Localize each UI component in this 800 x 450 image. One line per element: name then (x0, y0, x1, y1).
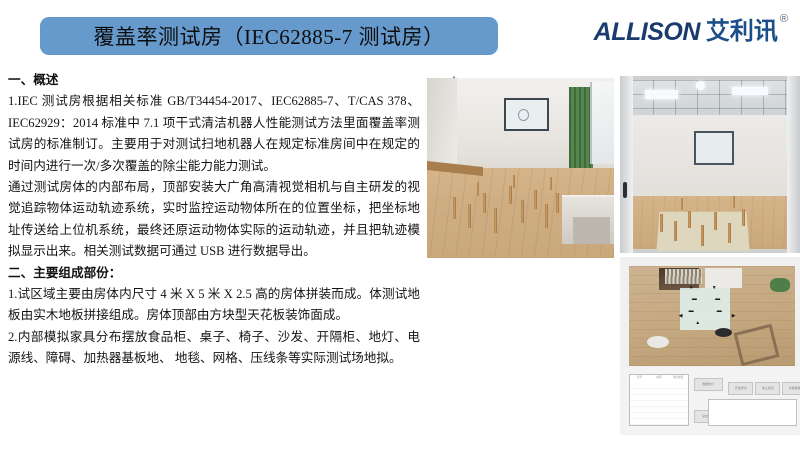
section-heading-overview: 一、概述 (8, 70, 420, 91)
trajectory-arrow-icon: ▲ (695, 321, 700, 326)
trajectory-arrow-icon: ▬ (689, 309, 694, 314)
overhead-camera-view: ▼ ▼ ▬ ▬ ▬ ▬ ▲ ◀ ▶ (629, 266, 795, 366)
status-message-box[interactable] (708, 399, 796, 426)
obstacle-post (483, 193, 486, 213)
obstacle-post (521, 200, 524, 223)
obstacle-post (660, 214, 663, 232)
obstacle-post (728, 223, 731, 243)
obstacle-post (453, 197, 456, 219)
registered-trademark-icon: ® (780, 14, 788, 25)
robot-marker (715, 328, 732, 337)
wall-mounted-panel (694, 131, 734, 165)
trajectory-arrow-icon: ▶ (732, 314, 736, 319)
room-door-right (787, 76, 800, 253)
stop-test-button[interactable]: 停止测试 (755, 382, 780, 396)
step-platform-upper (573, 217, 610, 244)
plant-object (770, 278, 790, 292)
paragraph-furniture-layout: 2.内部模拟家具分布摆放食品柜、桌子、椅子、沙发、开隔柜、地灯、电源线、障碍、加… (8, 327, 420, 370)
paragraph-tracking-system: 通过测试房体的内部布局，顶部安装大广角高清视觉相机与自主研发的视觉追踪物体运动轨… (8, 177, 420, 263)
obstacle-post (733, 196, 735, 208)
start-test-button[interactable]: 开始测试 (728, 382, 753, 396)
obstacle-post (513, 175, 515, 188)
obstacle-post (494, 208, 497, 233)
obstacle-post (545, 204, 548, 228)
blinds-region (665, 269, 701, 284)
obstacle-post (742, 209, 745, 226)
table-header-position: 坐标位置 (668, 375, 687, 383)
trajectory-arrow-icon: ▬ (717, 309, 722, 314)
trajectory-arrow-icon: ▼ (689, 286, 694, 291)
obstacle-post (714, 212, 717, 230)
pendant-lamp-icon (696, 81, 705, 90)
obstacle-post (468, 204, 471, 228)
floor-lamp (647, 336, 669, 348)
photo-tracking-software-ui: ▼ ▼ ▬ ▬ ▬ ▬ ▲ ◀ ▶ 序号 时间 坐标位置 数据统计 轨迹回放 (620, 257, 800, 435)
logo-cjk-text: 艾利讯 (706, 20, 778, 44)
trajectory-arrow-icon: ▼ (712, 286, 717, 291)
panel-circle-marker (518, 109, 529, 121)
page-title: 覆盖率测试房（IEC62885-7 测试房） (93, 21, 444, 51)
chair-frame-object (734, 323, 780, 365)
table-header-index: 序号 (630, 375, 649, 383)
media-panel: 0510152025303540455055606570758085909510… (424, 70, 800, 436)
obstacle-post (556, 193, 559, 213)
page-header: 覆盖率测试房（IEC62885-7 测试房） ALLISON 艾利讯 ® (0, 0, 800, 68)
obstacle-post (674, 221, 677, 241)
ceiling-light (732, 87, 768, 96)
paragraph-standards: 1.IEC 测试房根据相关标准 GB/T34454-2017、IEC62885-… (8, 91, 420, 177)
table-header-time: 时间 (649, 375, 668, 383)
photo-test-room-with-posts (427, 78, 614, 258)
obstacle-post (509, 186, 512, 204)
obstacle-post (681, 198, 683, 210)
photo-test-room-wide-view (620, 76, 800, 253)
obstacle-post (550, 177, 552, 190)
photo-room-wide-canvas (620, 76, 800, 253)
white-furniture-block (705, 268, 741, 288)
table-rows (630, 383, 688, 425)
trajectory-arrow-icon: ▬ (715, 297, 720, 302)
trajectory-arrow-icon: ▬ (692, 297, 697, 302)
wall-mounted-panel (504, 98, 549, 131)
ceiling-tiles (631, 80, 789, 119)
door-handle-icon (623, 182, 628, 198)
stats-button[interactable]: 数据统计 (694, 378, 723, 391)
section-heading-components: 二、主要组成部份： (8, 263, 420, 284)
ceiling-grid-lines (631, 80, 789, 119)
room-door-left (620, 76, 633, 253)
body-text-column: 一、概述 1.IEC 测试房根据相关标准 GB/T34454-2017、IEC6… (8, 70, 420, 370)
obstacle-post (477, 182, 479, 196)
photo-room-posts-canvas (427, 78, 614, 258)
paragraph-room-structure: 1.试区域主要由房体内尺寸 4 米 X 5 米 X 2.5 高的房体拼装而成。体… (8, 284, 420, 327)
photo-software-canvas: ▼ ▼ ▬ ▬ ▬ ▬ ▲ ◀ ▶ 序号 时间 坐标位置 数据统计 轨迹回放 (620, 257, 800, 435)
obstacle-post (688, 211, 691, 228)
ceiling-light (645, 90, 677, 99)
obstacle-post (534, 190, 537, 209)
logo-latin-text: ALLISON (594, 20, 700, 45)
trajectory-arrow-icon: ◀ (679, 314, 683, 319)
obstacle-post (701, 225, 704, 246)
window-panel (590, 82, 614, 165)
data-log-table[interactable]: 序号 时间 坐标位置 (629, 374, 689, 426)
company-logo: ALLISON 艾利讯 ® (594, 20, 788, 52)
title-banner: 覆盖率测试房（IEC62885-7 测试房） (40, 17, 498, 55)
clear-data-button[interactable]: 清除数据 (782, 382, 800, 396)
